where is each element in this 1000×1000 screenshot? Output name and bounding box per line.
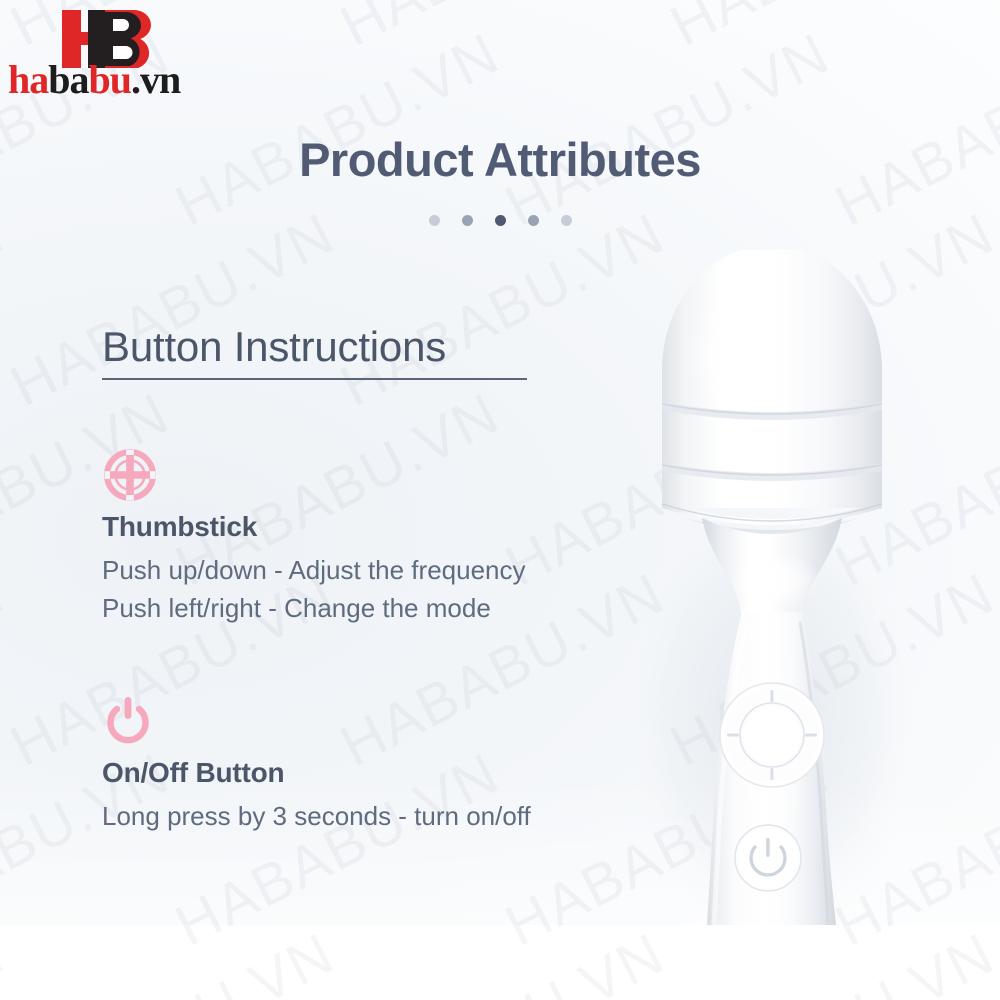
dot-separator bbox=[0, 215, 1000, 226]
instruction-line: Push left/right - Change the mode bbox=[102, 590, 526, 628]
dot-4 bbox=[528, 215, 539, 226]
instruction-label-thumbstick: Thumbstick bbox=[102, 511, 526, 543]
logo-word-vn: .vn bbox=[131, 57, 180, 102]
page-title: Product Attributes bbox=[0, 134, 1000, 186]
dot-1 bbox=[429, 215, 440, 226]
logo-word-bu: bu bbox=[89, 57, 132, 102]
dot-3 bbox=[495, 215, 506, 226]
dpad-control bbox=[720, 683, 824, 787]
brand-logo[interactable]: hababu.vn bbox=[8, 8, 223, 104]
dot-5 bbox=[561, 215, 572, 226]
thumbstick-crosshair-icon bbox=[102, 447, 526, 503]
watermark-text: HABABU.VN bbox=[660, 920, 1000, 1000]
product-attributes-page: HABABU.VNHABABU.VNHABABU.VNHABABU.VNHABA… bbox=[0, 0, 1000, 1000]
watermark-text: HABABU.VN bbox=[0, 920, 15, 1000]
dot-2 bbox=[462, 215, 473, 226]
watermark-text: HABABU.VN bbox=[330, 920, 675, 1000]
power-button-on-device bbox=[735, 825, 801, 891]
logo-wordmark: hababu.vn bbox=[8, 60, 223, 100]
section-heading: Button Instructions bbox=[102, 323, 542, 370]
product-image-wand-massager bbox=[590, 250, 1000, 925]
power-icon bbox=[102, 693, 531, 749]
section-divider bbox=[102, 378, 527, 380]
logo-word-ha: ha bbox=[8, 57, 48, 102]
instruction-lines-thumbstick: Push up/down - Adjust the frequency Push… bbox=[102, 552, 526, 628]
logo-word-ba: ba bbox=[48, 57, 88, 102]
section-button-instructions: Button Instructions bbox=[102, 323, 542, 380]
instruction-line: Push up/down - Adjust the frequency bbox=[102, 552, 526, 590]
instruction-block-power: On/Off Button Long press by 3 seconds - … bbox=[102, 693, 531, 836]
instruction-block-thumbstick: Thumbstick Push up/down - Adjust the fre… bbox=[102, 447, 526, 628]
wand-head bbox=[662, 250, 882, 534]
instruction-line: Long press by 3 seconds - turn on/off bbox=[102, 798, 531, 836]
instruction-lines-power: Long press by 3 seconds - turn on/off bbox=[102, 798, 531, 836]
watermark-text: HABABU.VN bbox=[0, 920, 345, 1000]
watermark-text: HABABU.VN bbox=[990, 920, 1000, 1000]
instruction-label-power: On/Off Button bbox=[102, 757, 531, 789]
